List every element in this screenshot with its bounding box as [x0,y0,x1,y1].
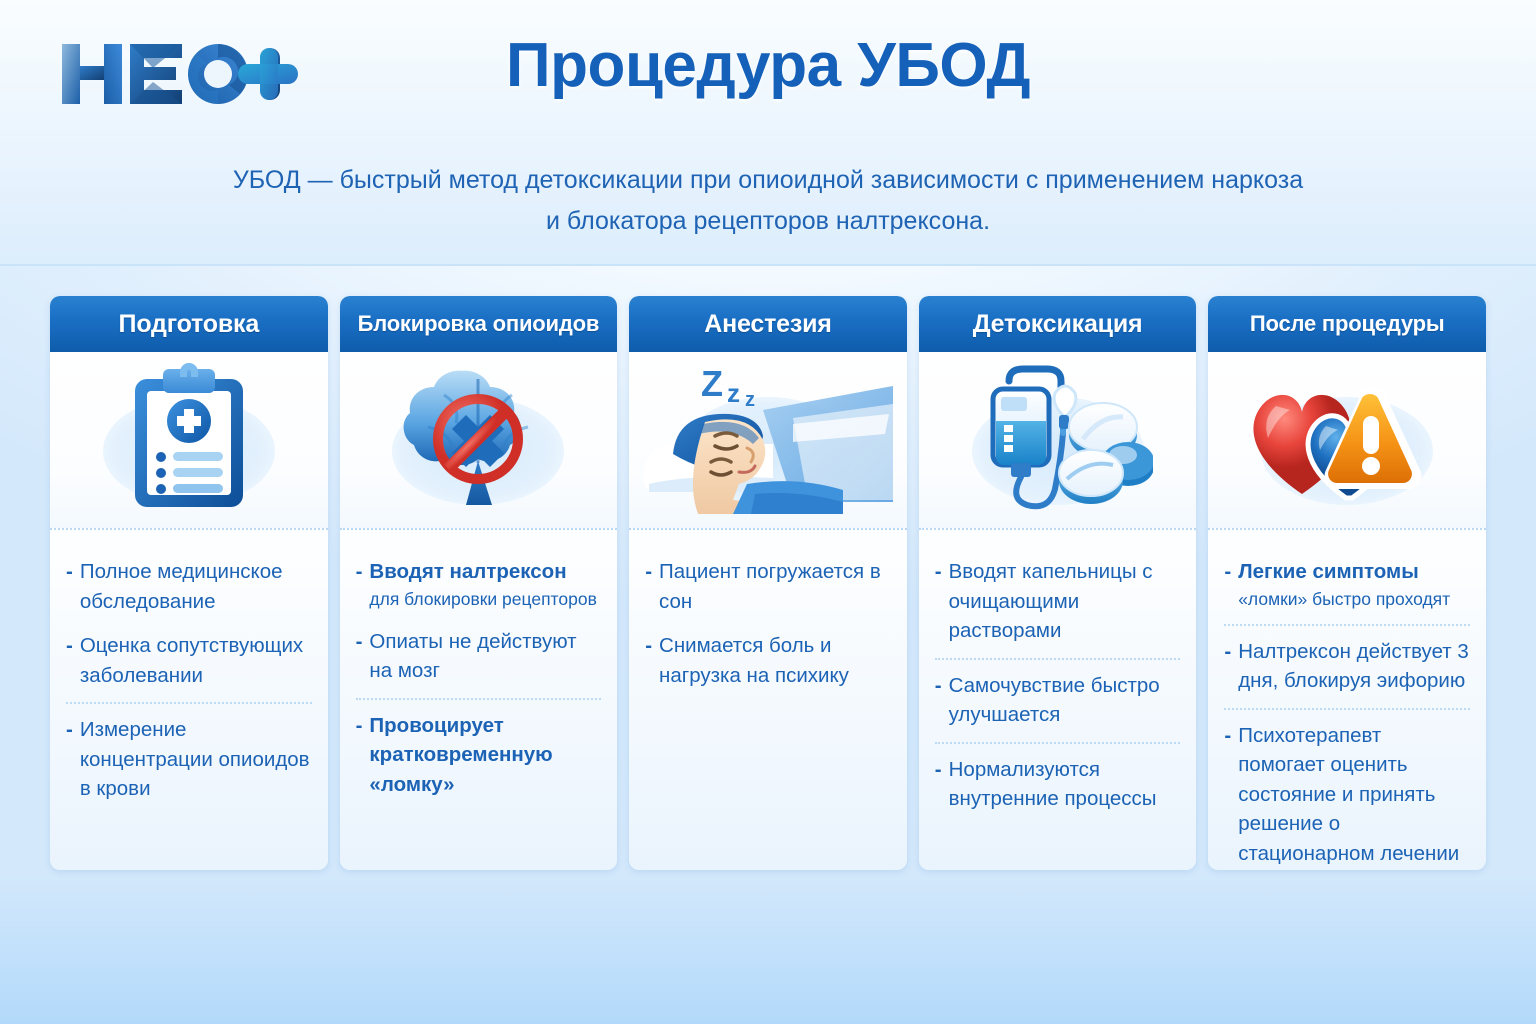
list-item-text: Оценка сопутствующих заболевании [80,631,312,690]
list-item: -Вводят налтрексондля блокировки рецепто… [356,550,602,620]
subtitle-line-1: УБОД — быстрый метод детоксикации при оп… [158,160,1378,201]
step-anesthesia-icon-area: Z z z [629,352,907,530]
step-opioid-block-icon-area [340,352,618,530]
svg-text:z: z [745,389,755,411]
subtitle-line-2: и блокатора рецепторов налтрексона. [158,201,1378,242]
step-after-header: После процедуры [1208,296,1486,352]
bullet-dash-icon: - [66,557,73,587]
list-item-text: Полное медицинское обследование [80,557,312,616]
list-item-text: Психотерапевт помогает оценить состояние… [1238,721,1470,869]
list-item-main-text: Провоцирует кратковременную «ломку» [369,714,552,796]
list-item-main-text: Самочувствие быстро улучшается [949,674,1160,727]
list-item-text: Самочувствие быстро улучшается [949,671,1181,730]
list-item-text: Пациент погружается в сон [659,557,891,616]
list-item: -Снимается боль и нагрузка на психику [645,624,891,698]
step-opioid-block-header: Блокировка опиоидов [340,296,618,352]
list-item-text: Налтрексон действует 3 дня, блокируя эиф… [1238,637,1470,696]
page-subtitle: УБОД — быстрый метод детоксикации при оп… [158,160,1378,241]
item-separator [66,702,312,704]
item-separator [935,658,1181,660]
list-item: -Самочувствие быстро улучшается [935,664,1181,738]
list-item: -Измерение концентрации опиоидов в крови [66,708,312,812]
step-detox-header: Детоксикация [919,296,1197,352]
step-detox-icon-area [919,352,1197,530]
list-item-main-text: Пациент погружается в сон [659,560,881,613]
list-item: -Оценка сопутствующих заболевании [66,624,312,698]
list-item-text: Вводят капельницы с очищающими растворам… [949,557,1181,646]
list-item: -Налтрексон действует 3 дня, блокируя эи… [1224,630,1470,704]
list-item-text: Вводят налтрексондля блокировки рецептор… [369,557,601,612]
brain-blocked-icon [392,365,564,516]
step-opioid-block-card: Блокировка опиоидов -Вводят налтрексондл… [340,296,618,870]
list-item-main-text: Вводят налтрексон [369,560,566,583]
list-item-text: Провоцирует кратковременную «ломку» [369,711,601,800]
list-item-main-text: Измерение концентрации опиоидов в крови [80,718,310,800]
step-anesthesia-body: -Пациент погружается в сон-Снимается бол… [629,530,907,870]
item-separator [1224,708,1470,710]
bullet-dash-icon: - [935,755,942,785]
list-item: -Легкие симптомы«ломки» быстро проходят [1224,550,1470,620]
step-preparation-body: -Полное медицинское обследование-Оценка … [50,530,328,870]
step-detox-card: Детоксикация [919,296,1197,870]
list-item-sub-text: «ломки» быстро проходят [1238,587,1470,612]
list-item-sub-text: для блокировки рецепторов [369,587,601,612]
bullet-dash-icon: - [356,557,363,587]
bullet-dash-icon: - [1224,637,1231,667]
list-item-text: Измерение концентрации опиоидов в крови [80,715,312,804]
bullet-dash-icon: - [66,631,73,661]
bullet-dash-icon: - [645,631,652,661]
bullet-dash-icon: - [935,557,942,587]
bullet-dash-icon: - [356,711,363,741]
list-item: -Нормализуются внутренние процессы [935,748,1181,822]
bullet-dash-icon: - [356,627,363,657]
svg-text:Z: Z [701,363,723,404]
bullet-dash-icon: - [935,671,942,701]
step-anesthesia-header: Анестезия [629,296,907,352]
list-item-main-text: Налтрексон действует 3 дня, блокируя эиф… [1238,640,1469,693]
page-header: Процедура УБОД УБОД — быстрый метод дето… [0,0,1536,266]
step-preparation-card: Подготовка -Полное медицинское обследова… [50,296,328,870]
step-preparation-header: Подготовка [50,296,328,352]
step-after-icon-area [1208,352,1486,530]
list-item-main-text: Легкие симптомы [1238,560,1419,583]
bullet-dash-icon: - [66,715,73,745]
page-title: Процедура УБОД [0,30,1536,101]
list-item-text: Опиаты не действуют на мозг [369,627,601,686]
list-item-main-text: Оценка сопутствующих заболевании [80,634,303,687]
bottom-gradient [0,874,1536,1024]
list-item-text: Снимается боль и нагрузка на психику [659,631,891,690]
item-separator [1224,624,1470,626]
list-item-main-text: Снимается боль и нагрузка на психику [659,634,849,687]
list-item: -Психотерапевт помогает оценить состояни… [1224,714,1470,870]
steps-container: Подготовка -Полное медицинское обследова… [50,296,1486,870]
list-item-main-text: Психотерапевт помогает оценить состояние… [1238,724,1459,865]
list-item-main-text: Полное медицинское обследование [80,560,283,613]
step-preparation-icon-area [50,352,328,530]
sleeping-patient-icon: Z z z [643,362,893,519]
clipboard-medical-icon [123,363,255,518]
list-item: -Опиаты не действуют на мозг [356,620,602,694]
item-separator [356,698,602,700]
list-item: -Провоцирует кратковременную «ломку» [356,704,602,808]
list-item: -Пациент погружается в сон [645,550,891,624]
infographic-page: Процедура УБОД УБОД — быстрый метод дето… [0,0,1536,1024]
list-item: -Вводят капельницы с очищающими раствора… [935,550,1181,654]
item-separator [935,742,1181,744]
iv-drip-pills-icon [963,363,1153,518]
bullet-dash-icon: - [645,557,652,587]
list-item-text: Легкие симптомы«ломки» быстро проходят [1238,557,1470,612]
list-item: -Полное медицинское обследование [66,550,312,624]
hearts-warning-icon [1242,372,1452,509]
list-item-main-text: Вводят капельницы с очищающими растворам… [949,560,1153,642]
step-detox-body: -Вводят капельницы с очищающими раствора… [919,530,1197,870]
step-after-body: -Легкие симптомы«ломки» быстро проходят-… [1208,530,1486,870]
bullet-dash-icon: - [1224,721,1231,751]
list-item-text: Нормализуются внутренние процессы [949,755,1181,814]
list-item-main-text: Опиаты не действуют на мозг [369,630,576,683]
list-item-main-text: Нормализуются внутренние процессы [949,758,1157,811]
step-opioid-block-body: -Вводят налтрексондля блокировки рецепто… [340,530,618,870]
bullet-dash-icon: - [1224,557,1231,587]
step-anesthesia-card: Анестезия [629,296,907,870]
svg-text:z: z [727,378,740,408]
step-after-card: После процедуры -Легкие симптомы«л [1208,296,1486,870]
